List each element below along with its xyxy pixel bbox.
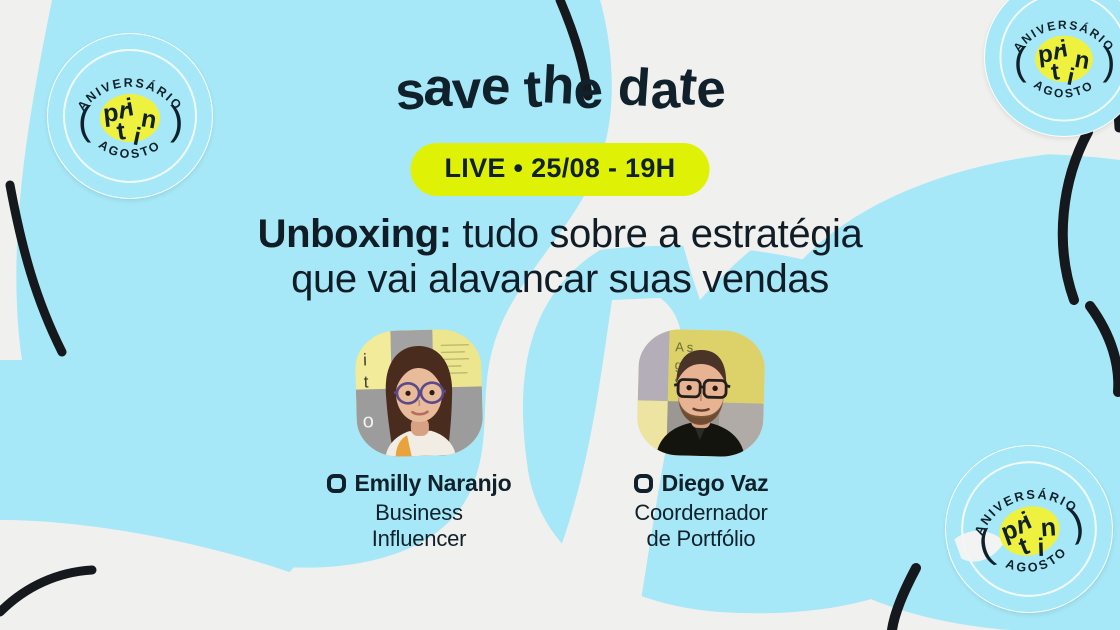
page-title: Unboxing: tudo sobre a estratégia que va… <box>0 212 1120 302</box>
live-date-badge: LIVE • 25/08 - 19H <box>411 143 710 196</box>
speaker-photo-emilly: i t o <box>354 328 483 457</box>
title-line-2: que vai alavancar suas vendas <box>291 257 829 301</box>
speaker-role: Coordernador de Portfólio <box>591 500 811 553</box>
brand-badge-art: ANIVERSÁRIO AGOSTO p r i n t i ( ) <box>48 34 212 198</box>
eyebrow-save-the-date: savethedate <box>0 62 1120 115</box>
speaker-role-line-1: Coordernador <box>634 500 767 525</box>
svg-text:i: i <box>363 350 367 369</box>
poster-canvas: ANIVERSÁRIO AGOSTO p r i n t i ( ) <box>0 0 1120 630</box>
eyebrow-letter: e <box>479 59 512 114</box>
speaker-role-line-2: de Portfólio <box>647 526 756 551</box>
brand-badge-top-left: ANIVERSÁRIO AGOSTO p r i n t i ( ) <box>48 34 212 198</box>
eyebrow-letter: s <box>393 64 426 119</box>
speaker-name-row: Diego Vaz <box>591 470 811 497</box>
speaker-role-line-2: Influencer <box>372 526 467 551</box>
speaker-card: i t o <box>309 330 529 553</box>
speaker-name: Emilly Naranjo <box>355 470 512 497</box>
speaker-list: i t o <box>0 330 1120 553</box>
woman-with-glasses-portrait: i t o <box>354 328 483 457</box>
eyebrow-letter: d <box>617 60 652 115</box>
speaker-role-line-1: Business <box>375 500 463 525</box>
speaker-role: Business Influencer <box>309 500 529 553</box>
eyebrow-letter: e <box>571 63 605 119</box>
eyebrow-letter: a <box>649 63 681 117</box>
title-emphasis: Unboxing: <box>258 212 452 256</box>
speaker-name-row: Emilly Naranjo <box>309 470 529 497</box>
speaker-card: A s gr Se <box>591 330 811 553</box>
ring-bullet-icon <box>634 474 653 493</box>
ring-bullet-icon <box>327 474 346 493</box>
speaker-photo-diego: A s gr Se <box>636 328 765 457</box>
title-line-1: Unboxing: tudo sobre a estratégia <box>258 212 863 256</box>
bearded-man-with-glasses-portrait: A s gr Se <box>636 328 765 457</box>
title-rest: tudo sobre a estratégia <box>452 212 863 256</box>
svg-text:t: t <box>363 372 368 391</box>
svg-text:o: o <box>362 410 374 432</box>
speaker-name: Diego Vaz <box>662 470 769 497</box>
eyebrow-letter: a <box>422 60 455 115</box>
eyebrow-letter: e <box>695 62 728 117</box>
